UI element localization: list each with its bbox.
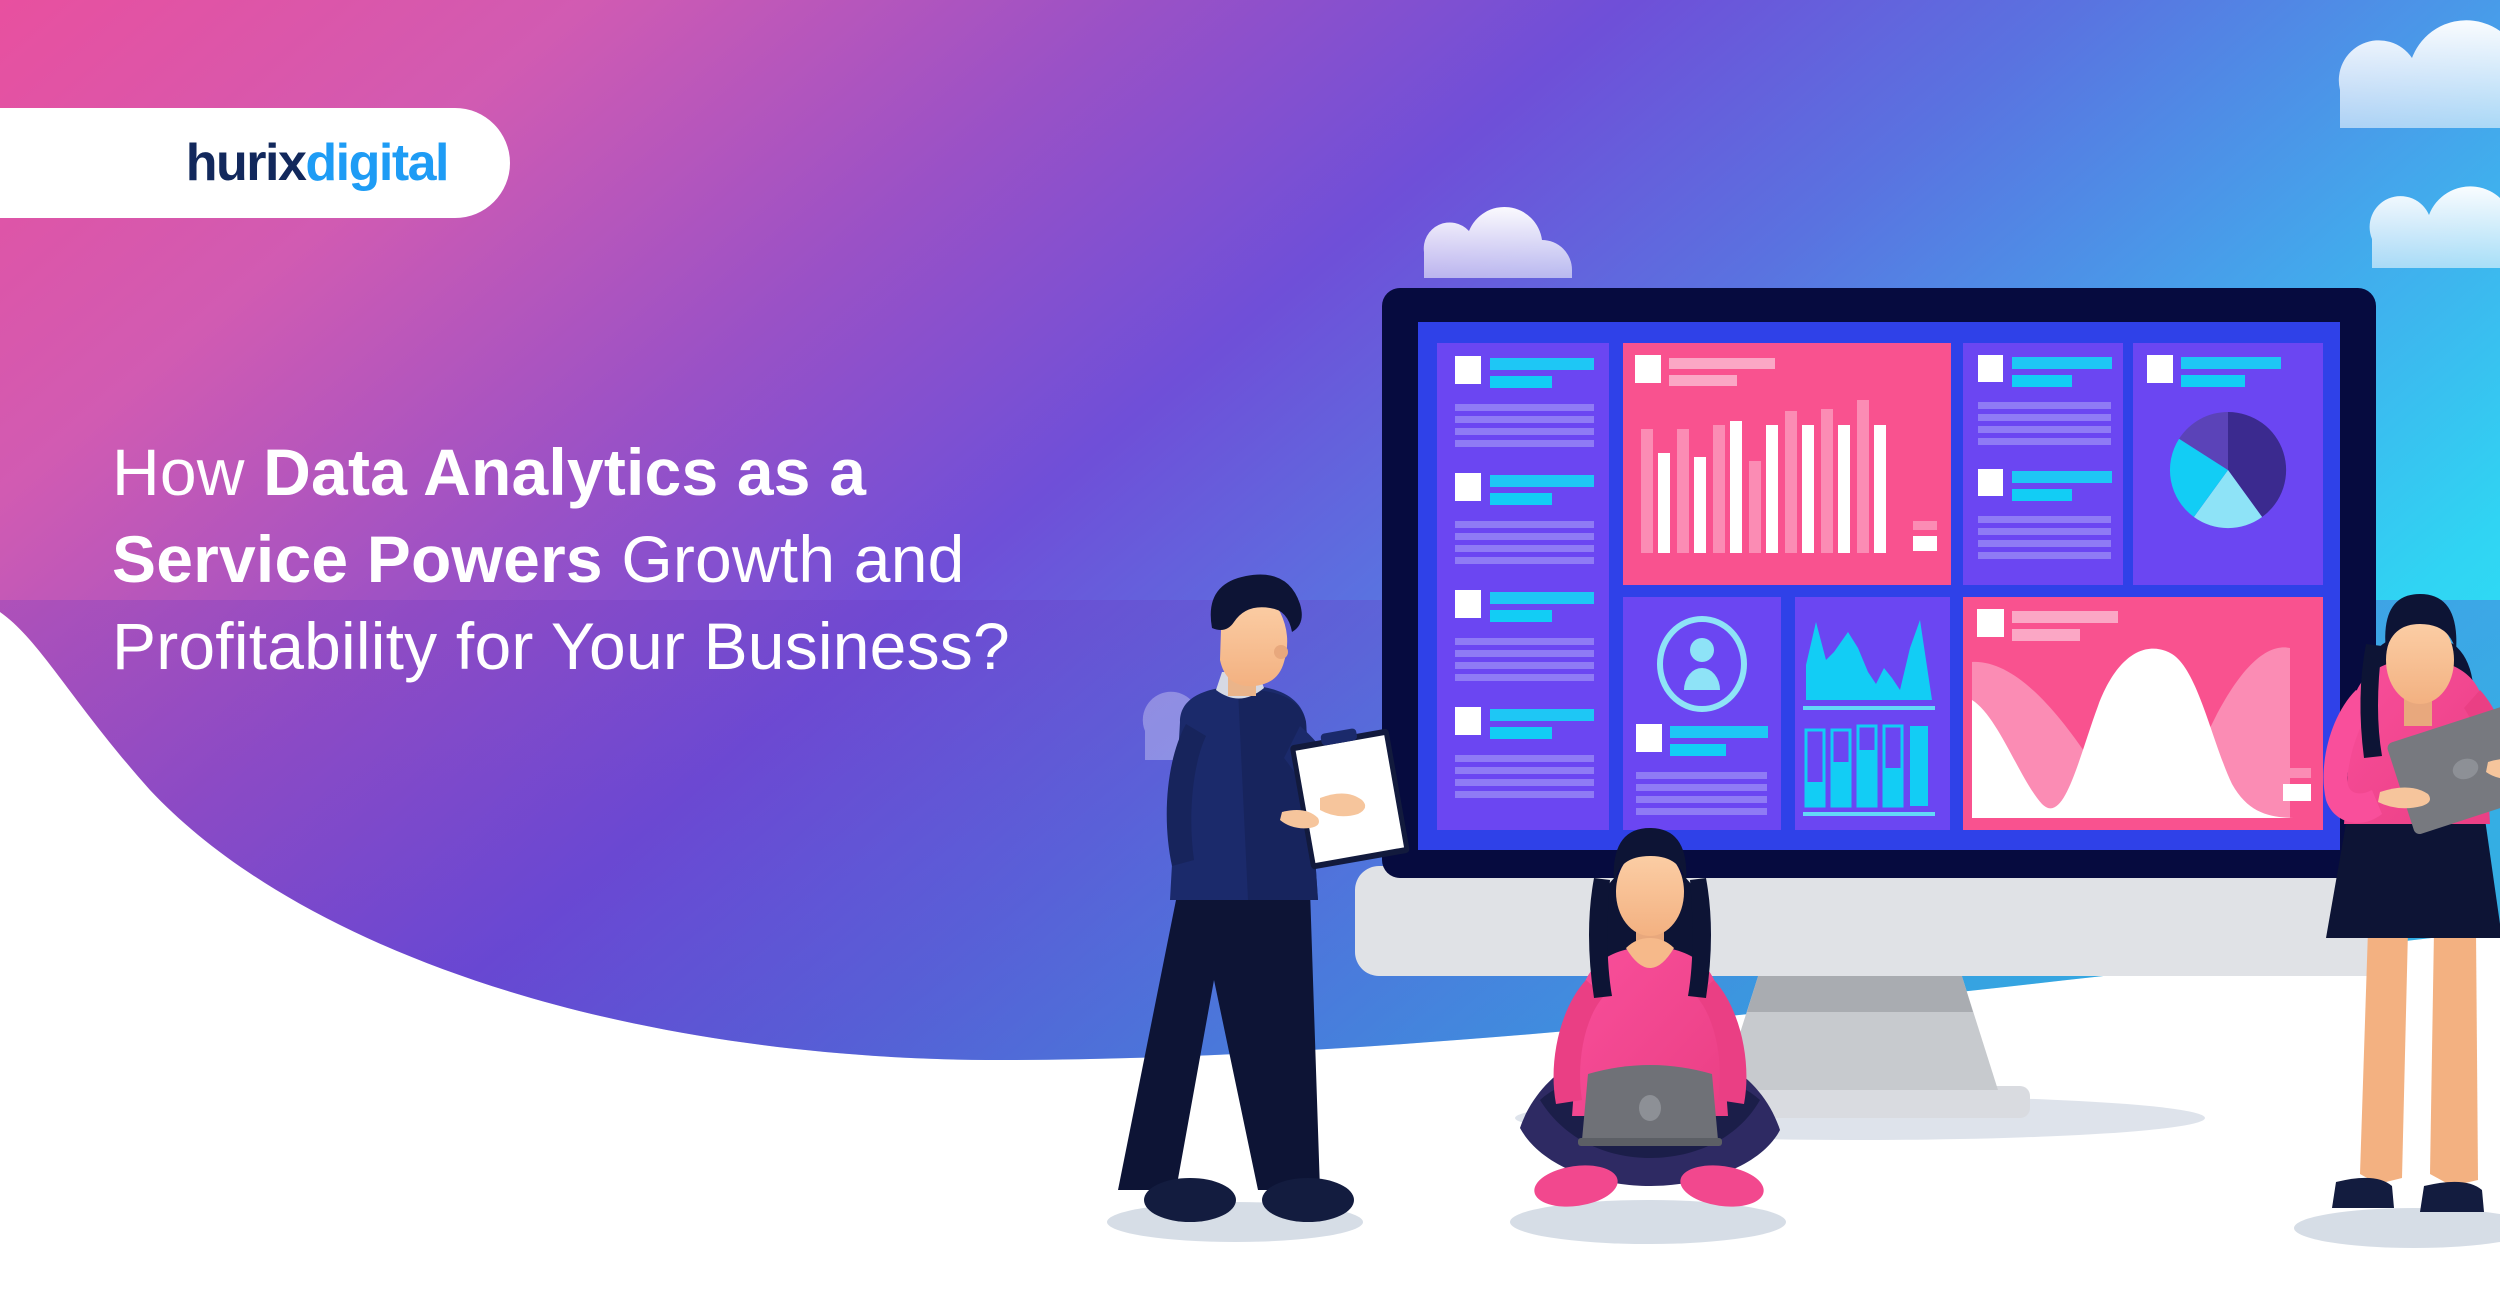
panel-pie-chart[interactable] xyxy=(2133,343,2323,585)
seated-woman-shadow xyxy=(1510,1200,1786,1244)
standing-woman-leg-left xyxy=(2360,930,2408,1184)
headline-l1-plain: How xyxy=(112,435,263,509)
panel-wave-chart[interactable] xyxy=(1963,597,2323,830)
headline-l2-bold: Service Powers xyxy=(112,522,603,596)
standing-woman-leg-right xyxy=(2430,930,2478,1186)
headline-line-1: How Data Analytics as a xyxy=(112,429,1292,516)
monitor-stand-top xyxy=(1747,970,1973,1012)
standing-woman-skirt xyxy=(2326,812,2500,938)
panel-area-and-bars[interactable] xyxy=(1795,597,1950,830)
headline-l3-plain: Profitability for Your Business? xyxy=(112,609,1010,683)
logo-pill[interactable]: hurixdigital xyxy=(0,108,510,218)
headline-line-2: Service Powers Growth and xyxy=(112,516,1292,603)
headline-line-3: Profitability for Your Business? xyxy=(112,603,1292,690)
logo-word-digital: digital xyxy=(305,134,448,192)
logo-word-hurix: hurix xyxy=(186,134,306,192)
panel-text-list-mid[interactable] xyxy=(1963,343,2123,585)
pie-chart xyxy=(2170,412,2286,528)
page-title: How Data Analytics as a Service Powers G… xyxy=(112,429,1292,690)
panel-profile[interactable] xyxy=(1623,597,1781,830)
man-shoe-left xyxy=(1144,1178,1236,1222)
monitor-chin xyxy=(1355,866,2405,976)
panel-bar-chart[interactable] xyxy=(1623,343,1951,585)
standing-woman-shoe-right xyxy=(2420,1182,2484,1212)
banner-canvas: hurixdigital How Data Analytics as a Ser… xyxy=(0,0,2500,1310)
headline-l2-plain: Growth and xyxy=(603,522,965,596)
brand-logo: hurixdigital xyxy=(186,137,448,189)
laptop xyxy=(1578,1065,1722,1146)
standing-woman-shoe-left xyxy=(2332,1178,2394,1208)
panel-text-list-left[interactable] xyxy=(1437,343,1609,830)
man-shoe-right xyxy=(1262,1178,1354,1222)
headline-l1-bold: Data Analytics as a xyxy=(263,435,866,509)
